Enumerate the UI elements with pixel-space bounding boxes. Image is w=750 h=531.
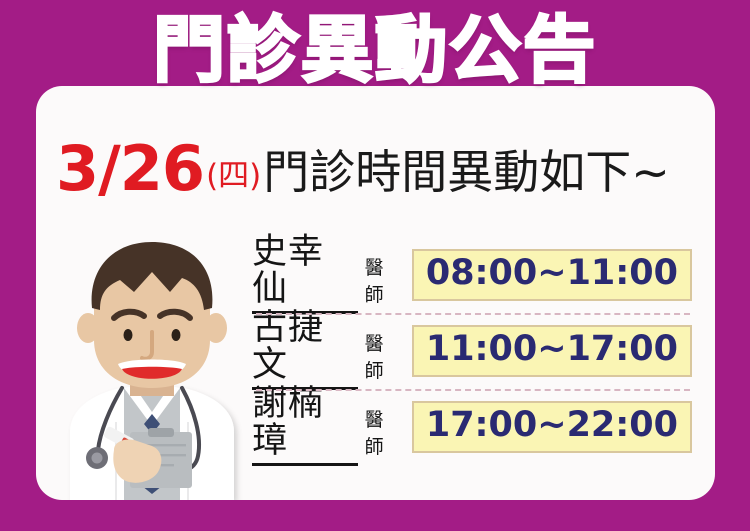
doctor-name-block: 謝楠璋 醫師 <box>252 386 402 468</box>
doctor-name: 古捷文 <box>252 310 358 390</box>
schedule-list: 史幸仙 醫師 08:00~11:00 古捷文 醫師 11:00~17:00 謝楠… <box>252 237 692 465</box>
doctor-illustration <box>52 236 252 500</box>
clinic-time-slot: 08:00~11:00 <box>412 249 692 301</box>
clinic-time-slot: 17:00~22:00 <box>412 401 692 453</box>
doctor-name-block: 古捷文 醫師 <box>252 310 402 392</box>
row-divider <box>256 389 690 391</box>
doctor-title-suffix: 醫師 <box>365 405 402 466</box>
date-description: 門診時間異動如下~ <box>263 149 670 195</box>
row-divider <box>256 313 690 315</box>
date-number: 3/26 <box>56 138 204 200</box>
page-title: 門診異動公告 <box>0 14 750 86</box>
doctor-eye-left <box>124 329 133 341</box>
doctor-name: 謝楠璋 <box>252 386 358 466</box>
doctor-eye-right <box>172 329 181 341</box>
table-row: 謝楠璋 醫師 17:00~22:00 <box>252 389 692 465</box>
doctor-title-suffix: 醫師 <box>365 329 402 390</box>
doctor-name: 史幸仙 <box>252 234 358 314</box>
table-row: 史幸仙 醫師 08:00~11:00 <box>252 237 692 313</box>
doctor-title-suffix: 醫師 <box>365 253 402 314</box>
clinic-schedule-poster: 門診異動公告 3/26 (四) 門診時間異動如下~ <box>0 0 750 531</box>
date-line: 3/26 (四) 門診時間異動如下~ <box>56 138 670 200</box>
table-row: 古捷文 醫師 11:00~17:00 <box>252 313 692 389</box>
doctor-name-block: 史幸仙 醫師 <box>252 234 402 316</box>
clinic-time-slot: 11:00~17:00 <box>412 325 692 377</box>
date-weekday: (四) <box>206 161 261 192</box>
